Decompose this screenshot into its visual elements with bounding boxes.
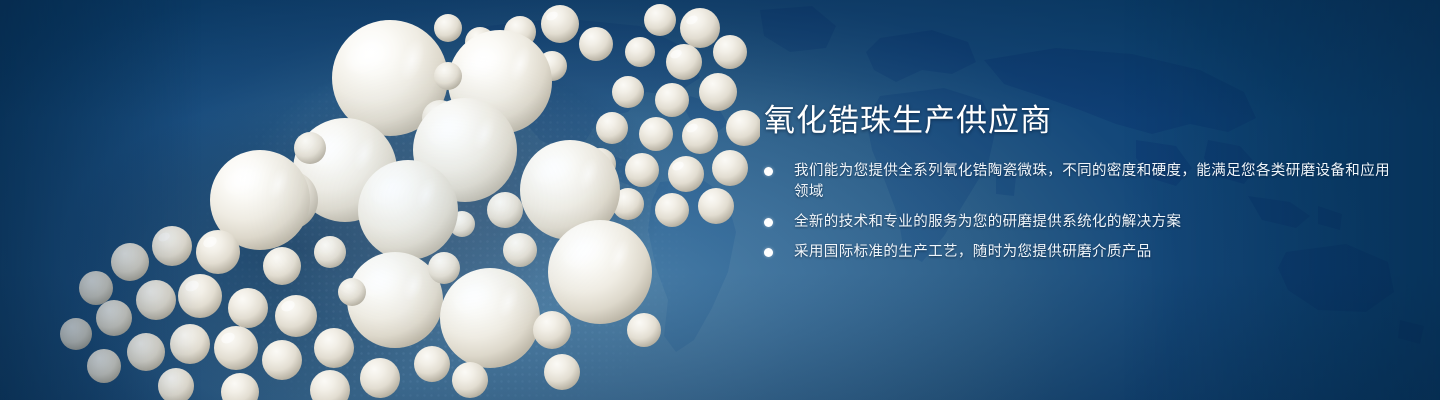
bullet-circle-icon: [764, 167, 773, 176]
bullet-text: 我们能为您提供全系列氧化锆陶瓷微珠，不同的密度和硬度，能满足您各类研磨设备和应用…: [794, 163, 1390, 200]
hero-banner: 氧化锆珠生产供应商 我们能为您提供全系列氧化锆陶瓷微珠，不同的密度和硬度，能满足…: [0, 0, 1440, 400]
list-item: 全新的技术和专业的服务为您的研磨提供系统化的解决方案: [764, 212, 1404, 233]
bullet-circle-icon: [764, 218, 773, 227]
banner-bullet-list: 我们能为您提供全系列氧化锆陶瓷微珠，不同的密度和硬度，能满足您各类研磨设备和应用…: [764, 161, 1404, 263]
list-item: 我们能为您提供全系列氧化锆陶瓷微珠，不同的密度和硬度，能满足您各类研磨设备和应用…: [764, 161, 1404, 203]
banner-headline: 氧化锆珠生产供应商: [764, 104, 1404, 139]
bullet-circle-icon: [764, 248, 773, 257]
bullet-text: 采用国际标准的生产工艺，随时为您提供研磨介质产品: [794, 244, 1152, 260]
banner-text-block: 氧化锆珠生产供应商 我们能为您提供全系列氧化锆陶瓷微珠，不同的密度和硬度，能满足…: [764, 104, 1404, 263]
list-item: 采用国际标准的生产工艺，随时为您提供研磨介质产品: [764, 242, 1404, 263]
bullet-text: 全新的技术和专业的服务为您的研磨提供系统化的解决方案: [794, 214, 1181, 230]
